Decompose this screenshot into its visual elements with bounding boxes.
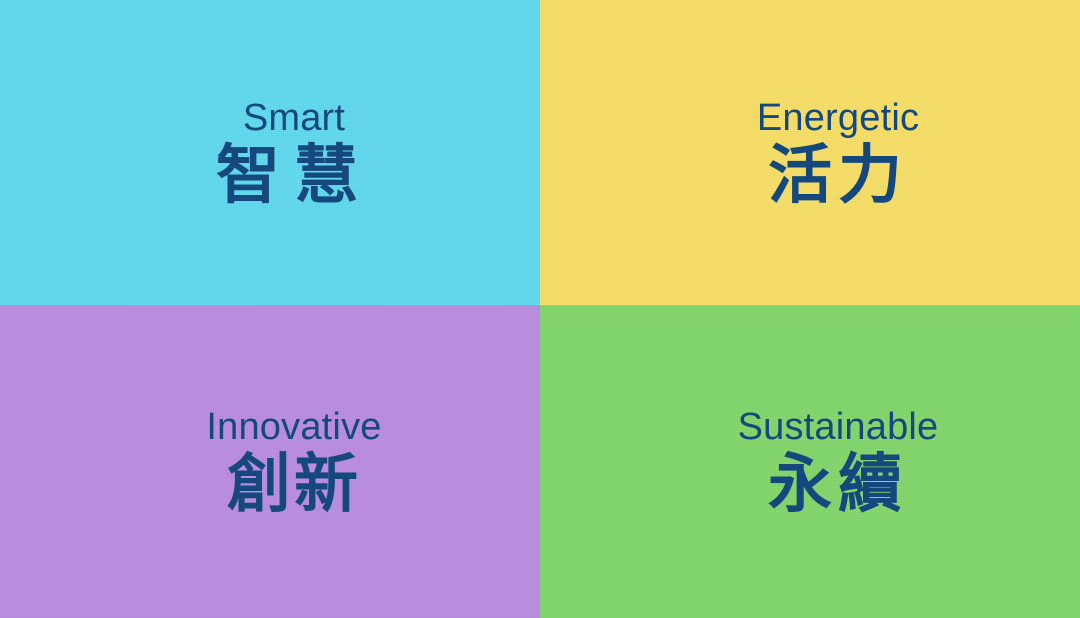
label-en-smart: Smart: [216, 99, 372, 137]
label-en-sustainable: Sustainable: [738, 408, 939, 446]
brand-values-canvas: Smart 智慧 Energetic 活力 Innovative 創新 Sust…: [0, 0, 1080, 618]
text-block-sustainable: Sustainable 永續: [738, 408, 939, 516]
quadrant-innovative: Innovative 創新: [0, 305, 540, 618]
quadrant-sustainable: Sustainable 永續: [540, 305, 1080, 618]
label-en-innovative: Innovative: [206, 408, 381, 446]
label-zh-sustainable: 永續: [738, 452, 939, 516]
quadrant-energetic: Energetic 活力: [540, 0, 1080, 305]
text-block-smart: Smart 智慧: [216, 99, 372, 207]
label-zh-energetic: 活力: [757, 143, 919, 207]
quadrant-smart: Smart 智慧: [0, 0, 540, 305]
text-block-innovative: Innovative 創新: [206, 408, 381, 516]
label-zh-innovative: 創新: [206, 452, 381, 516]
label-zh-smart: 智慧: [216, 143, 372, 207]
quadrant-grid: Smart 智慧 Energetic 活力 Innovative 創新 Sust…: [0, 0, 1080, 618]
label-en-energetic: Energetic: [757, 99, 919, 137]
text-block-energetic: Energetic 活力: [757, 99, 919, 207]
